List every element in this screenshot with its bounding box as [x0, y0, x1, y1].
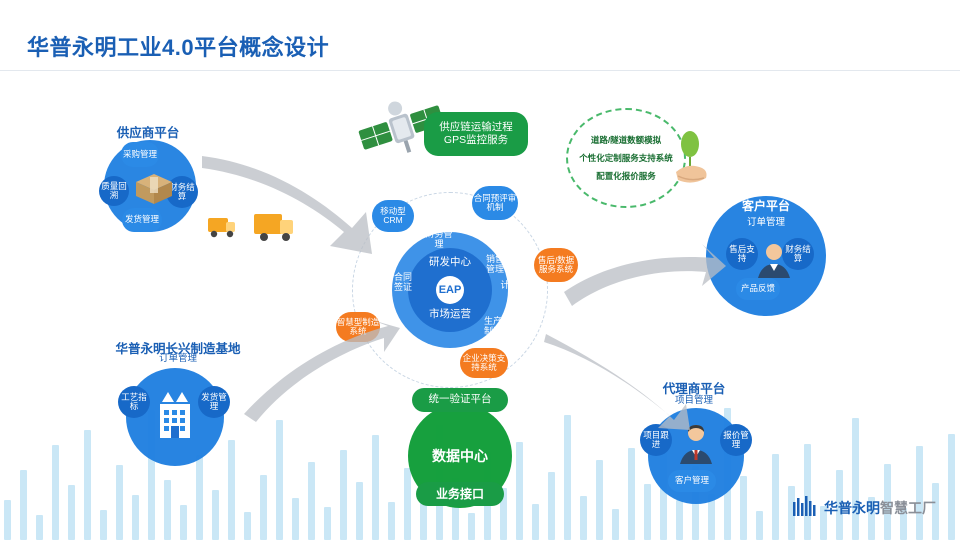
supplier-chip-0[interactable]: 采购管理 — [121, 142, 159, 167]
hub-ring-bottom: 市场运营 — [418, 308, 482, 320]
factory-subtitle: 订单管理 — [128, 354, 228, 365]
background-bar — [596, 460, 603, 540]
background-bar — [84, 430, 91, 540]
background-bar — [676, 500, 683, 540]
background-bar — [308, 462, 315, 540]
background-bar — [580, 496, 587, 540]
hub-inner-right-bottom: 生产制造 — [480, 316, 506, 337]
hub-core[interactable]: EAP — [436, 276, 464, 304]
hub-satellite-3[interactable]: 企业决策支持系统 — [460, 348, 508, 378]
arrow-factory-to-hub — [236, 318, 402, 428]
background-bar — [260, 475, 267, 540]
background-bar — [244, 512, 251, 540]
background-bar — [740, 476, 747, 540]
background-bar — [404, 468, 411, 540]
data-center-label: 数据中心 — [408, 448, 512, 464]
background-bar — [340, 450, 347, 540]
footer-brand-suffix: 智慧工厂 — [880, 500, 936, 516]
supplier-chip-1[interactable]: 质量回溯 — [99, 176, 129, 206]
gps-service-banner: 供应链运输过程 GPS监控服务 — [424, 112, 528, 156]
agent-chip-1[interactable]: 报价管理 — [720, 424, 752, 456]
background-bar — [212, 490, 219, 540]
hub-inner-right-top: 销售管理 — [482, 254, 508, 275]
hub-ring-left: 合同签证 — [392, 272, 414, 293]
background-bar — [388, 502, 395, 540]
footer-brand: 华普永明智慧工厂 — [824, 498, 936, 518]
background-bar — [516, 442, 523, 540]
page-title: 华普永明工业4.0平台概念设计 — [27, 30, 329, 62]
background-bar — [292, 498, 299, 540]
gps-banner-line2: GPS监控服务 — [444, 134, 508, 147]
background-bar — [36, 515, 43, 540]
footer-brand-main: 华普永明 — [824, 500, 880, 516]
background-bar — [804, 444, 811, 540]
customer-platform-subtitle: 订单管理 — [706, 218, 826, 229]
background-bar — [548, 472, 555, 540]
hub-outer-right: 计划管理 — [500, 280, 528, 301]
arrow-hub-to-agent — [540, 324, 690, 434]
hub-ring-top: 研发中心 — [418, 256, 482, 268]
background-bar — [644, 484, 651, 540]
hub-outer-top-left: 财务管理 — [424, 229, 454, 250]
background-bar — [468, 513, 475, 540]
background-bar — [100, 510, 107, 540]
background-bar — [628, 448, 635, 540]
background-bar — [276, 420, 283, 540]
customer-avatar-icon — [752, 238, 796, 282]
background-bar — [196, 455, 203, 540]
background-bar — [772, 454, 779, 540]
background-bar — [4, 500, 11, 540]
title-divider — [0, 70, 960, 71]
background-bar — [164, 480, 171, 540]
background-bar — [756, 511, 763, 540]
footer-logo: 华普永明智慧工厂 — [792, 494, 936, 518]
data-center-title: 统一验证平台 — [412, 388, 508, 412]
background-bar — [324, 507, 331, 540]
background-bar — [532, 504, 539, 540]
arrow-supplier-to-hub — [196, 150, 386, 260]
hub-satellite-1[interactable]: 合同预评审机制 — [472, 186, 518, 220]
background-bar — [228, 440, 235, 540]
background-bar — [356, 482, 363, 540]
factory-chip-0[interactable]: 工艺指标 — [118, 386, 150, 418]
hand-bulb-icon — [666, 128, 716, 190]
slide-canvas: 华普永明工业4.0平台概念设计 供应商平台 采购管理 质量回溯 财务结算 发货管… — [0, 0, 960, 540]
carton-box-icon — [132, 168, 176, 208]
background-bar — [852, 418, 859, 540]
background-bar — [68, 485, 75, 540]
logo-mark-icon — [792, 494, 818, 518]
background-bar — [180, 505, 187, 540]
title-bar: 华普永明工业4.0平台概念设计 — [0, 0, 960, 72]
background-bar — [20, 470, 27, 540]
factory-building-icon — [152, 384, 198, 440]
factory-chip-1[interactable]: 发货管理 — [198, 386, 230, 418]
customer-platform-title: 客户平台 — [706, 196, 826, 214]
background-bar — [132, 495, 139, 540]
background-bar — [116, 465, 123, 540]
background-bar — [948, 434, 955, 540]
background-bar — [916, 446, 923, 540]
agent-chip-2[interactable]: 客户管理 — [668, 470, 716, 492]
supplier-chip-3[interactable]: 发货管理 — [122, 208, 162, 232]
supplier-platform-title: 供应商平台 — [88, 122, 208, 141]
background-bar — [372, 435, 379, 540]
background-bar — [52, 445, 59, 540]
background-bar — [612, 509, 619, 540]
gps-banner-line1: 供应链运输过程 — [439, 121, 513, 134]
data-center-bottom-label: 业务接口 — [416, 482, 504, 506]
